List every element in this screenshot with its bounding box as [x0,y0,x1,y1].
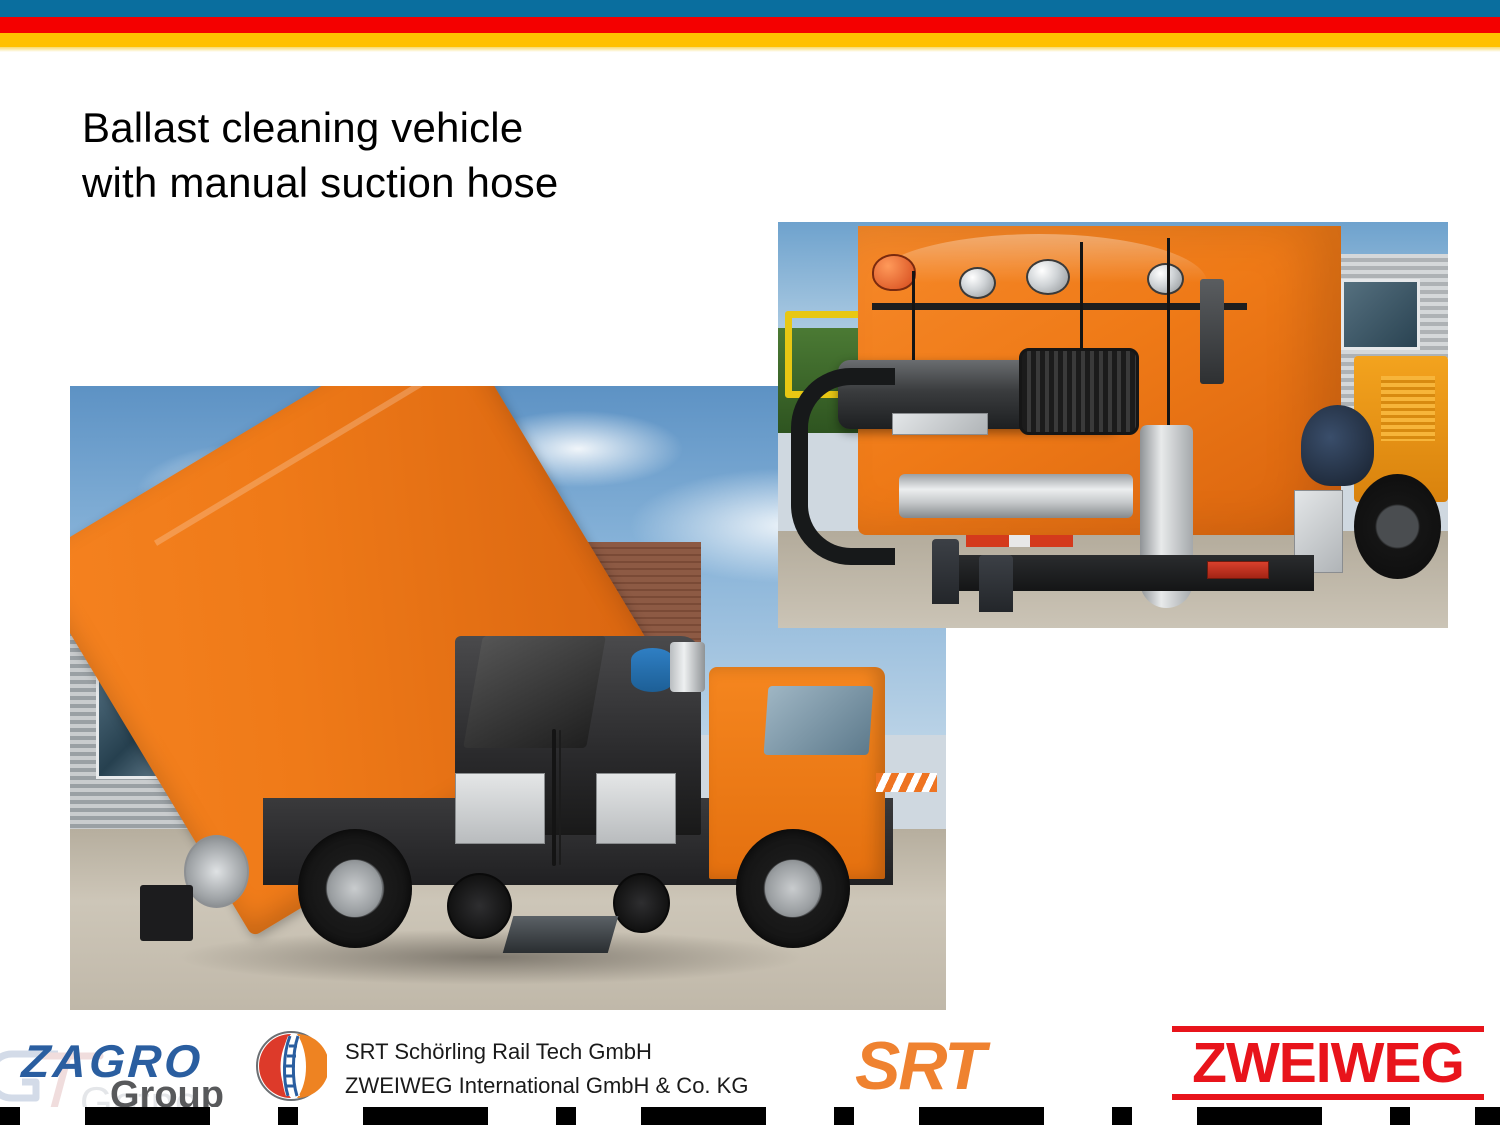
photo-hose-reel [184,835,249,908]
detail-background-window [1341,279,1421,350]
zweiweg-logo: ZWEIWEG [1172,1026,1484,1100]
photo-road-wheel [736,829,850,948]
header-stripe-blue [0,0,1500,17]
header-stripe-fade [0,47,1500,52]
detail-work-light [1147,263,1185,295]
header-stripe-bar [0,0,1500,52]
photo-control-box [596,773,677,844]
photo-control-box [455,773,545,844]
detail-beacon-light [872,254,916,290]
detail-second-vehicle-louvers [1381,376,1435,441]
header-stripe-red [0,17,1500,33]
photo-rail-guide-wheel [613,873,670,933]
photo-suction-hose [552,729,556,866]
bottom-dashed-strip [0,1107,1500,1125]
detail-work-light [1026,259,1070,295]
detail-reflector-strip [966,535,1073,547]
photo-blue-tank [631,648,675,692]
header-stripe-yellow [0,33,1500,47]
zweiweg-wordmark: ZWEIWEG [1172,1032,1484,1094]
zweiweg-rule-bottom [1172,1094,1484,1100]
detail-hydraulic-cylinder [1200,279,1223,385]
company-names: SRT Schörling Rail Tech GmbH ZWEIWEG Int… [345,1035,748,1103]
photo-ground-shadow [175,929,806,985]
srt-circle-logo [255,1030,327,1102]
photo-manual-suction-hose-detail [778,222,1448,628]
photo-windshield [764,686,874,755]
photo-hopper [463,636,605,748]
detail-hydraulic-hose [1167,238,1170,433]
detail-rear-wheel [1354,474,1441,580]
photo-front-support-leg [140,885,193,941]
detail-black-suction-hose [791,368,895,564]
detail-body-dark-bar [872,303,1247,310]
detail-mounting-plate [892,413,988,435]
photo-road-wheel [298,829,412,948]
photo-rail-guide-wheel [447,873,512,939]
page-title: Ballast cleaning vehicle with manual suc… [82,100,842,211]
photo-suction-nozzle-plate [503,916,619,953]
detail-aluminium-suction-pipe [899,474,1134,519]
detail-hydraulic-hose [1080,242,1083,348]
srt-wordmark-logo: SRT [855,1027,984,1105]
detail-person-legs [932,539,959,604]
detail-tail-light [1207,561,1269,579]
detail-bellows-hose [1019,348,1139,435]
detail-fan-unit [1301,405,1375,486]
detail-hydraulic-hose [912,271,915,368]
photo-warning-decal [876,773,937,792]
zagro-group-logo: ZAGRO Group [22,1034,242,1110]
detail-person-legs [979,555,1013,612]
photo-silver-tank [670,642,705,692]
